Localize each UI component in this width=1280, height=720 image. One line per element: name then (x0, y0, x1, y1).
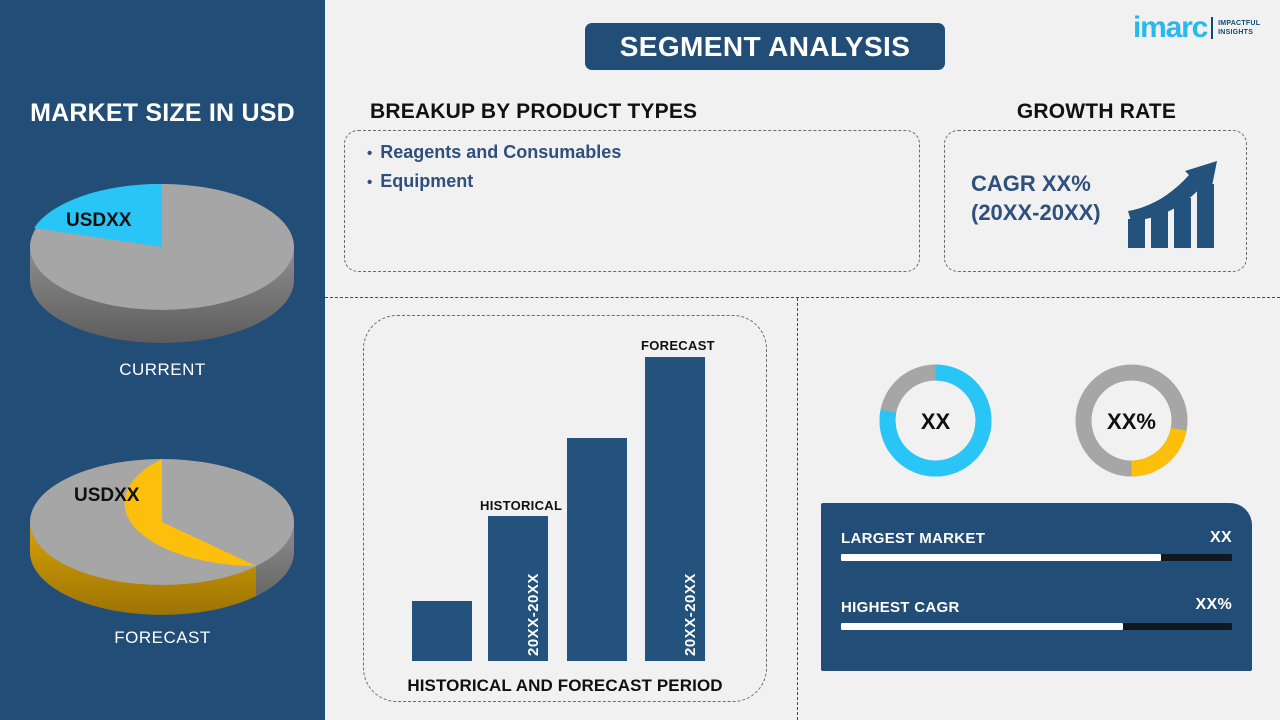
donut-1-center-label: XX% (1072, 409, 1191, 435)
breakup-item-1-label: Equipment (380, 171, 473, 192)
bar-annotation-forecast: FORECAST (641, 338, 715, 353)
breakup-item-0-label: Reagents and Consumables (380, 142, 621, 163)
chart-caption: HISTORICAL AND FORECAST PERIOD (363, 676, 767, 696)
metric-0-value: XX (1210, 529, 1232, 547)
logo-tagline: IMPACTFUL INSIGHTS (1218, 19, 1260, 37)
pie-chart-forecast: USDXX (28, 440, 296, 590)
bar-2 (567, 438, 627, 661)
bar-3-inner-label: 20XX-20XX (682, 573, 699, 656)
logo-wordmark: imarc (1133, 13, 1207, 43)
pie-chart-current: USDXX (28, 165, 296, 315)
metric-0-track (841, 554, 1232, 561)
sidebar-title: MARKET SIZE IN USD (0, 99, 325, 128)
pie-forecast-caption: FORECAST (0, 628, 325, 648)
cagr-line1: CAGR XX% (971, 169, 1101, 198)
bar-0 (412, 601, 472, 661)
growth-icon-svg (1125, 151, 1225, 251)
pie-current-svg (28, 165, 296, 315)
growth-rate-heading: GROWTH RATE (944, 100, 1249, 124)
cagr-text: CAGR XX% (20XX-20XX) (971, 169, 1101, 227)
bar-1-inner-label: 20XX-20XX (525, 573, 542, 656)
bar-annotation-historical: HISTORICAL (480, 498, 562, 513)
growth-rate-box: CAGR XX% (20XX-20XX) (944, 130, 1247, 272)
logo-tagline-line2: INSIGHTS (1218, 28, 1260, 37)
horizontal-divider (325, 297, 1280, 298)
logo-divider (1211, 17, 1213, 39)
donut-0-center-label: XX (876, 409, 995, 435)
market-size-sidebar: MARKET SIZE IN USD USDXX CURRENT (0, 0, 325, 720)
bullet-icon: • (367, 146, 372, 161)
logo-tagline-line1: IMPACTFUL (1218, 19, 1260, 28)
breakup-item-0: • Reagents and Consumables (367, 142, 621, 163)
pie-current-center-label: USDXX (66, 210, 131, 232)
pie-current-caption: CURRENT (0, 360, 325, 380)
growth-arrow-bars-icon (1125, 151, 1225, 256)
bullet-icon: • (367, 175, 372, 190)
metric-1-fill (841, 623, 1123, 630)
breakup-list-box: • Reagents and Consumables • Equipment (344, 130, 920, 272)
metric-1-label: HIGHEST CAGR (841, 599, 960, 616)
page-title: SEGMENT ANALYSIS (585, 23, 945, 70)
vertical-divider (797, 298, 798, 720)
breakup-item-1: • Equipment (367, 171, 473, 192)
cagr-line2: (20XX-20XX) (971, 198, 1101, 227)
pie-forecast-svg (28, 440, 296, 590)
metric-0-fill (841, 554, 1161, 561)
metric-1-track (841, 623, 1232, 630)
key-metrics-panel: LARGEST MARKET XX HIGHEST CAGR XX% (821, 503, 1252, 671)
breakup-heading: BREAKUP BY PRODUCT TYPES (370, 100, 697, 124)
imarc-logo: imarc IMPACTFUL INSIGHTS (1133, 13, 1260, 43)
metric-1-value: XX% (1196, 596, 1232, 614)
metric-0-label: LARGEST MARKET (841, 530, 985, 547)
infographic-page: MARKET SIZE IN USD USDXX CURRENT (0, 0, 1280, 720)
historical-forecast-chart-box: 20XX-20XX 20XX-20XX HISTORICAL FORECAST (363, 315, 767, 702)
donut-chart-1: XX% (1072, 361, 1191, 480)
pie-forecast-center-label: USDXX (74, 485, 139, 507)
donut-chart-0: XX (876, 361, 995, 480)
